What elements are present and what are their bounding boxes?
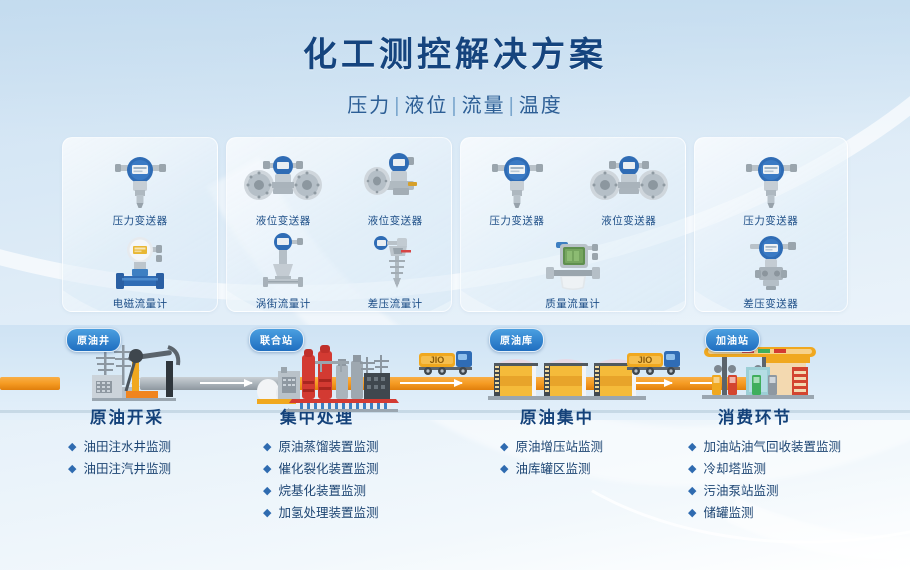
list-item[interactable]: ◆ 加油站油气回收装置监测 [688,436,841,458]
list-item[interactable]: ◆ 油库罐区监测 [500,458,603,480]
list-item[interactable]: ◆ 油田注水井监测 [68,436,171,458]
product-item[interactable]: 质量流量计 [461,234,685,311]
list-item[interactable]: ◆ 储罐监测 [688,502,841,524]
differential-pressure-flowmeter-icon [341,234,449,292]
vortex-flowmeter-icon [229,234,337,292]
product-card-4[interactable]: 压力变送器 [694,137,848,312]
electromagnetic-flowmeter-icon [86,234,194,292]
list-item-label: 储罐监测 [703,502,753,524]
product-item[interactable]: 压力变送器 [717,151,825,228]
product-label: 质量流量计 [461,296,685,311]
product-item[interactable]: 压力变送器 [86,151,194,228]
subtitle-part-pressure: 压力 [347,95,391,117]
monitoring-column-2: ◆ 原油蒸馏装置监测 ◆ 催化裂化装置监测 ◆ 烷基化装置监测 ◆ 加氢处理装置… [263,436,378,524]
page-title: 化工测控解决方案 [0,34,910,77]
product-item[interactable]: 涡街流量计 [229,234,337,311]
product-item[interactable]: 压力变送器 [463,151,571,228]
gas-station-scene [700,343,830,415]
page-header: 化工测控解决方案 压力|液位|流量|温度 [0,34,910,118]
tanker-truck: JIO [626,347,684,377]
product-item[interactable]: 电磁流量计 [86,234,194,311]
product-label: 液位变送器 [575,213,683,228]
bullet-icon: ◆ [263,458,271,480]
stage-badge-4[interactable]: 加油站 [705,328,760,352]
bullet-icon: ◆ [688,480,696,502]
list-item-label: 油田注汽井监测 [83,458,171,480]
subtitle-part-temperature: 温度 [519,95,563,117]
product-label: 差压变送器 [717,296,825,311]
bullet-icon: ◆ [500,436,508,458]
pressure-transmitter-icon [717,151,825,209]
list-item[interactable]: ◆ 原油增压站监测 [500,436,603,458]
bullet-icon: ◆ [500,458,508,480]
subtitle-separator: | [394,95,401,117]
product-item[interactable]: 差压流量计 [341,234,449,311]
stage-badge-2[interactable]: 联合站 [249,328,304,352]
list-item[interactable]: ◆ 冷却塔监测 [688,458,841,480]
mass-flowmeter-icon [461,234,685,292]
differential-pressure-transmitter-icon [717,234,825,292]
list-item-label: 冷却塔监测 [703,458,766,480]
pipeline-orange-left [0,377,60,390]
list-item-label: 加油站油气回收装置监测 [703,436,841,458]
subtitle-part-flow: 流量 [462,95,506,117]
list-item[interactable]: ◆ 污油泵站监测 [688,480,841,502]
level-transmitter-single-flange-icon [341,151,449,209]
level-transmitter-flanged-icon [229,151,337,209]
product-card-2[interactable]: 液位变送器 [226,137,452,312]
list-item-label: 油库罐区监测 [515,458,590,480]
pressure-transmitter-icon [463,151,571,209]
product-label: 涡街流量计 [229,296,337,311]
bullet-icon: ◆ [68,458,76,480]
pressure-transmitter-icon [86,151,194,209]
product-label: 液位变送器 [229,213,337,228]
subtitle-separator: | [509,95,516,117]
monitoring-column-1: ◆ 油田注水井监测 ◆ 油田注汽井监测 [68,436,171,480]
list-item-label: 油田注水井监测 [83,436,171,458]
list-item-label: 污油泵站监测 [703,480,778,502]
product-item[interactable]: 液位变送器 [341,151,449,228]
bullet-icon: ◆ [263,502,271,524]
list-item-label: 原油蒸馏装置监测 [278,436,378,458]
list-item[interactable]: ◆ 催化裂化装置监测 [263,458,378,480]
product-item[interactable]: 液位变送器 [575,151,683,228]
list-item-label: 烷基化装置监测 [278,480,366,502]
product-label: 液位变送器 [341,213,449,228]
product-label: 差压流量计 [341,296,449,311]
svg-text:JIO: JIO [430,355,445,365]
storage-tanks-scene [488,352,648,404]
subtitle-separator: | [451,95,458,117]
page-subtitle: 压力|液位|流量|温度 [0,89,910,118]
list-item[interactable]: ◆ 加氢处理装置监测 [263,502,378,524]
stage-title-3: 原油集中 [520,404,594,428]
bullet-icon: ◆ [68,436,76,458]
subtitle-part-level: 液位 [404,95,448,117]
product-label: 压力变送器 [86,213,194,228]
list-item[interactable]: ◆ 油田注汽井监测 [68,458,171,480]
product-item[interactable]: 液位变送器 [229,151,337,228]
svg-text:JIO: JIO [638,355,653,365]
list-item-label: 加氢处理装置监测 [278,502,378,524]
product-label: 电磁流量计 [86,296,194,311]
list-item[interactable]: ◆ 烷基化装置监测 [263,480,378,502]
level-transmitter-flanged-icon [575,151,683,209]
list-item[interactable]: ◆ 原油蒸馏装置监测 [263,436,378,458]
product-card-row: 压力变送器 [62,137,848,312]
stage-badge-3[interactable]: 原油库 [489,328,544,352]
monitoring-column-3: ◆ 原油增压站监测 ◆ 油库罐区监测 [500,436,603,480]
list-item-label: 催化裂化装置监测 [278,458,378,480]
bullet-icon: ◆ [688,436,696,458]
list-item-label: 原油增压站监测 [515,436,603,458]
product-card-3[interactable]: 压力变送器 [460,137,686,312]
bullet-icon: ◆ [263,480,271,502]
tanker-truck: JIO [418,347,476,377]
product-card-1[interactable]: 压力变送器 [62,137,218,312]
monitoring-column-4: ◆ 加油站油气回收装置监测 ◆ 冷却塔监测 ◆ 污油泵站监测 ◆ 储罐监测 [688,436,841,524]
product-item[interactable]: 差压变送器 [717,234,825,311]
product-label: 压力变送器 [717,213,825,228]
product-label: 压力变送器 [463,213,571,228]
bullet-icon: ◆ [263,436,271,458]
stage-badge-1[interactable]: 原油井 [66,328,121,352]
bullet-icon: ◆ [688,458,696,480]
bullet-icon: ◆ [688,502,696,524]
